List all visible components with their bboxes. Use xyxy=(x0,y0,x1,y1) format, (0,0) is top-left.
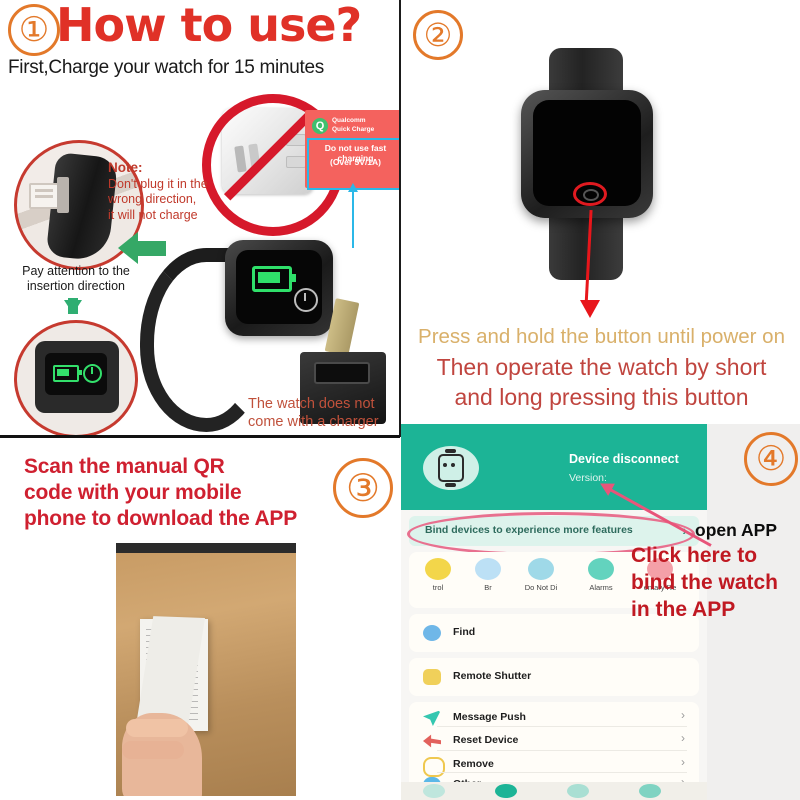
do-not-disturb-icon xyxy=(528,558,554,580)
scan-line-2: code with your mobile xyxy=(24,481,242,504)
qualcomm-logo-icon: Q xyxy=(312,118,328,134)
click-line-2: bind the watch xyxy=(631,571,778,594)
operate-line-2: and long pressing this button xyxy=(454,384,748,410)
power-icon xyxy=(83,364,102,383)
chevron-right-icon: › xyxy=(681,708,685,722)
qualcomm-brand-sub: Quick Charge xyxy=(332,125,374,134)
watch-icon xyxy=(423,446,479,490)
watch-charging-photo xyxy=(14,320,138,435)
power-icon xyxy=(294,288,318,312)
operate-watch-caption: Then operate the watch by short and long… xyxy=(409,352,794,412)
step-number-1: ① xyxy=(8,4,60,56)
charge-subtitle: First,Charge your watch for 15 minutes xyxy=(8,57,324,79)
usb-socket-icon xyxy=(29,183,59,209)
menu-item-label: Reset Device xyxy=(453,734,518,746)
cyan-pointer-arrow xyxy=(352,190,354,248)
operate-line-1: Then operate the watch by short xyxy=(437,354,767,380)
scan-qr-heading: Scan the manual QR code with your mobile… xyxy=(24,454,344,532)
note-line-2: wrong direction, xyxy=(108,192,196,206)
brightness-icon xyxy=(425,558,451,580)
menu-item-label: Message Push xyxy=(453,711,526,723)
search-icon xyxy=(423,625,441,641)
tab-icon-1[interactable] xyxy=(423,784,445,798)
note-line-1: Don't plug it in the xyxy=(108,177,208,191)
undo-arrow-icon xyxy=(423,733,441,749)
watch-device-photo xyxy=(225,240,333,336)
green-arrow-down-icon xyxy=(64,300,82,314)
quick-action-label: Br xyxy=(459,583,517,592)
menu-item-remote-shutter[interactable]: Remote Shutter xyxy=(409,662,699,692)
quick-action-label: Do Not Di xyxy=(512,583,570,592)
scan-line-3: phone to download the APP xyxy=(24,507,297,530)
click-here-annotation: Click here to bind the watch in the APP xyxy=(631,542,800,623)
screen-icon xyxy=(475,558,501,580)
home-button-highlight xyxy=(573,182,607,206)
camera-icon xyxy=(423,669,441,685)
fast-charge-warning-card: Q Qualcomm Quick Charge Do not use fast … xyxy=(305,110,399,188)
manual-photo xyxy=(116,543,296,796)
quick-action-label: Alarms xyxy=(572,583,630,592)
click-line-1: Click here to xyxy=(631,544,757,567)
red-arrow-down-icon xyxy=(580,300,600,318)
step-number-3: ③ xyxy=(333,458,393,518)
click-line-3: in the APP xyxy=(631,598,735,621)
horizontal-divider xyxy=(0,435,400,438)
battery-icon xyxy=(252,266,292,292)
tab-icon-2[interactable] xyxy=(495,784,517,798)
no-charger-line-1: The watch does not xyxy=(248,396,375,412)
menu-item-label: Remove xyxy=(453,758,494,770)
scan-line-1: Scan the manual QR xyxy=(24,455,225,478)
attention-line-2: insertion direction xyxy=(27,279,125,293)
page-title: How to use? xyxy=(56,0,361,52)
panel-how-to-use: ① How to use? First,Charge your watch fo… xyxy=(0,0,399,435)
chevron-right-icon: › xyxy=(681,755,685,769)
menu-item-label: Remote Shutter xyxy=(453,670,531,682)
note-line-3: it will not charge xyxy=(108,208,198,222)
attention-line-1: Pay attention to the xyxy=(22,264,130,278)
tab-icon-4[interactable] xyxy=(639,784,661,798)
step-number-4: ④ xyxy=(744,432,798,486)
battery-icon xyxy=(53,365,79,382)
green-arrow-left-icon xyxy=(116,228,170,268)
quick-action-2[interactable]: Do Not Di xyxy=(512,558,570,592)
open-app-annotation: open APP xyxy=(695,520,777,541)
chevron-right-icon: › xyxy=(681,731,685,745)
menu-item-label: Find xyxy=(453,626,475,638)
device-status-text: Device disconnect xyxy=(569,452,679,466)
no-fast-charge-line2: (Over 5V/1A) xyxy=(311,157,399,167)
panel-bind-app: Device disconnect Version: Bind devices … xyxy=(401,424,800,800)
quick-action-3[interactable]: Alarms xyxy=(572,558,630,592)
watch-case-photo xyxy=(521,90,653,218)
quick-action-1[interactable]: Br xyxy=(459,558,517,592)
no-charger-line-2: come with a charger xyxy=(248,414,379,430)
step-number-2: ② xyxy=(413,10,463,60)
infographic-page: ① How to use? First,Charge your watch fo… xyxy=(0,0,800,800)
press-hold-caption: Press and hold the button until power on xyxy=(409,325,794,349)
no-charger-note: The watch does not come with a charger xyxy=(248,395,399,431)
panel-power-on: ② Press and hold the button until power … xyxy=(401,0,800,423)
app-tab-bar xyxy=(401,782,707,800)
paper-plane-icon xyxy=(423,710,441,726)
alarm-icon xyxy=(588,558,614,580)
tab-icon-3[interactable] xyxy=(567,784,589,798)
qualcomm-brand-name: Qualcomm xyxy=(332,116,374,125)
remote-shutter-card: Remote Shutter xyxy=(409,658,699,696)
app-header: Device disconnect Version: xyxy=(401,424,707,510)
insertion-direction-caption: Pay attention to the insertion direction xyxy=(6,264,146,294)
qualcomm-brand-text: Qualcomm Quick Charge xyxy=(332,116,374,134)
note-label: Note: xyxy=(108,160,143,175)
note-text: Note: Don't plug it in the wrong directi… xyxy=(108,160,208,223)
